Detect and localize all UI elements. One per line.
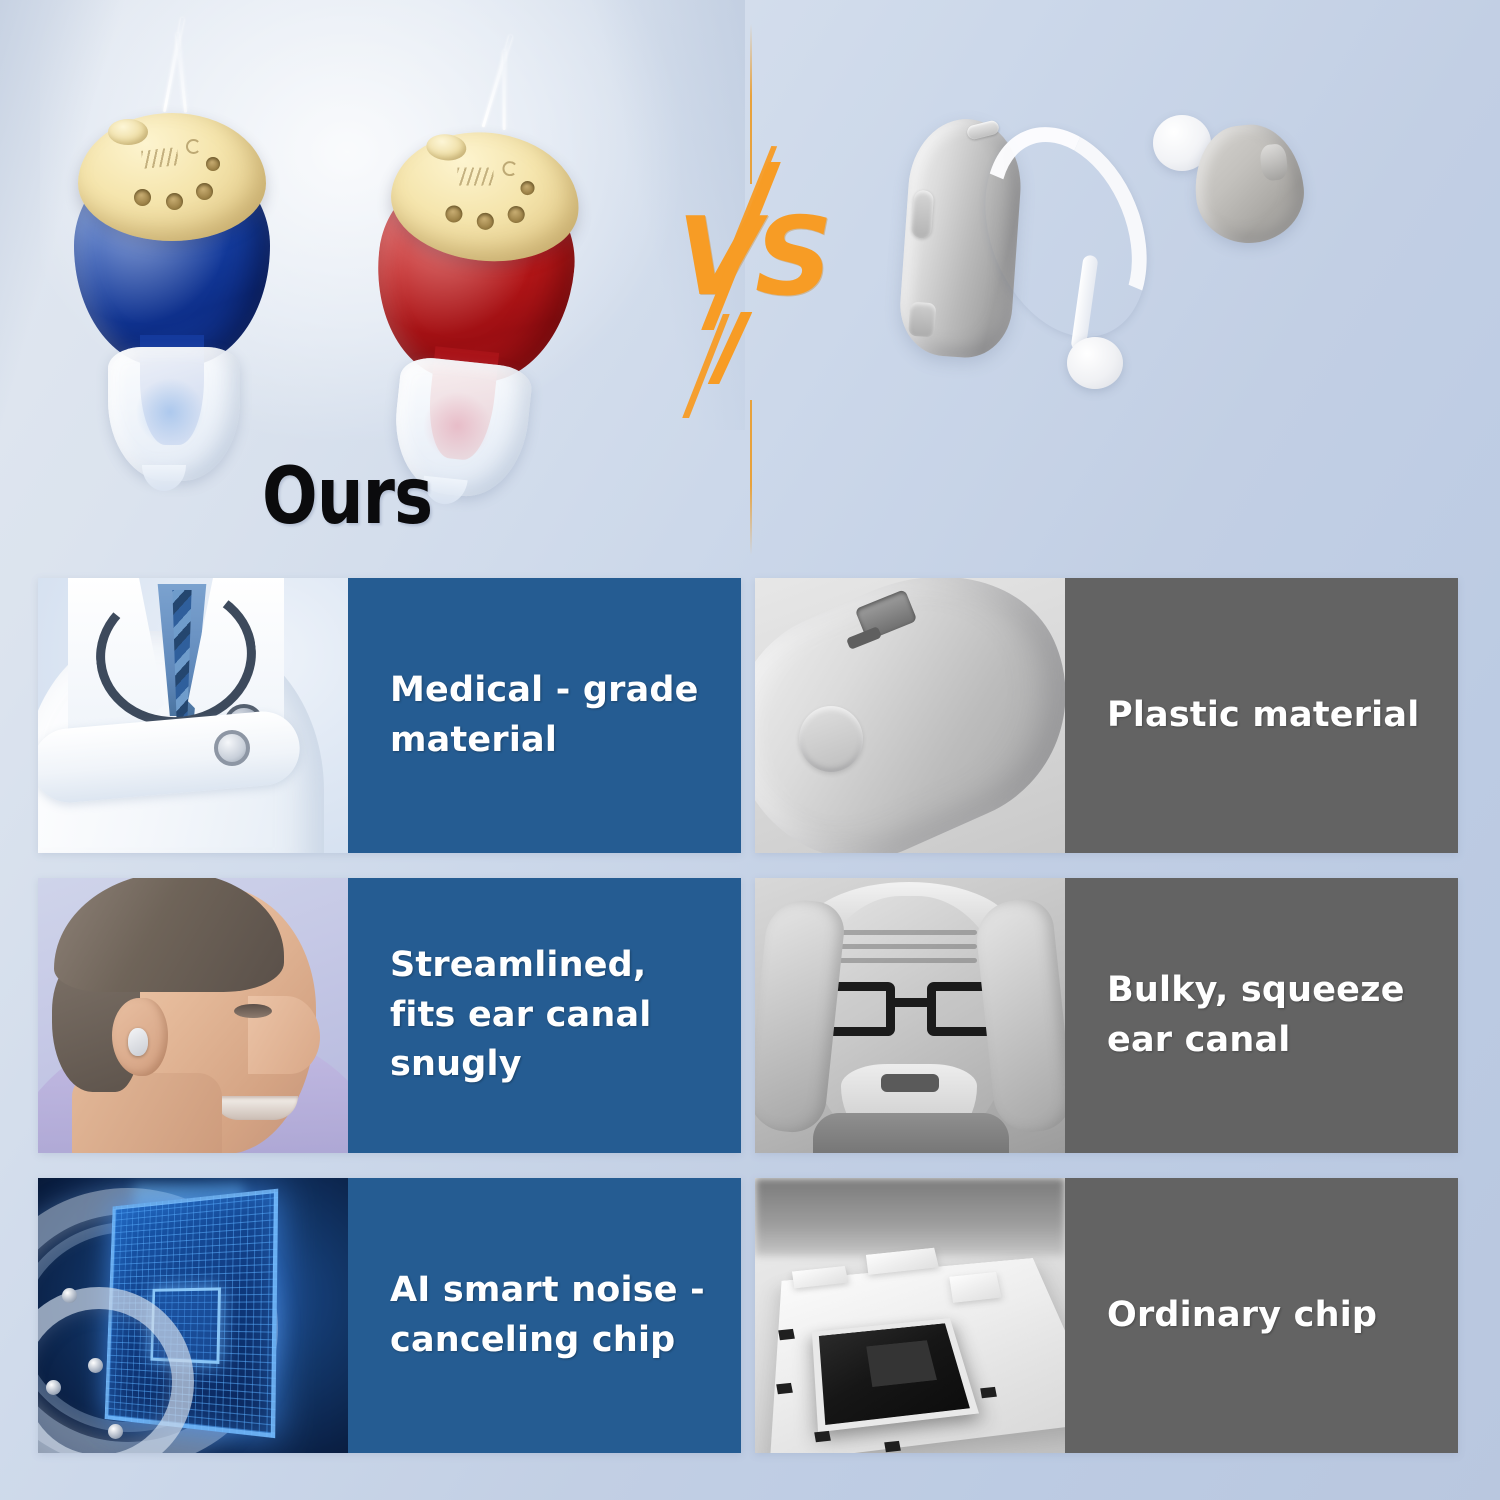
worn-hearing-aid [128,1028,148,1056]
hero-ours-panel: Ours [0,0,745,575]
smd-component [776,1383,793,1394]
faceplate-nub [425,132,467,162]
wristwatch-icon [214,730,250,766]
vent-port [476,212,495,231]
card-media-ordinary-chip [755,1178,1065,1453]
feature-label: Bulky, squeeze ear canal [1107,966,1437,1065]
card-panel-ours-1: Medical - grade material [348,578,741,853]
card-media-frustrated-man [755,878,1065,1153]
vent-port [520,180,535,195]
power-mark-icon [502,160,518,176]
comparison-card-others-1: Plastic material [755,578,1458,853]
removal-string-icon [482,35,513,128]
card-panel-others-1: Plastic material [1065,578,1458,853]
divider-line-top [750,24,752,184]
man-profile-photo [38,878,348,1153]
forehead-wrinkle [839,930,977,935]
hair [54,878,284,992]
hero-caption-ours: Ours [262,458,432,536]
product-cic-hearing-aid-red [348,100,598,510]
card-panel-others-3: Ordinary chip [1065,1178,1458,1453]
feature-label: Ordinary chip [1107,1291,1377,1341]
shell-button [799,706,863,772]
comparison-card-ours-3: AI smart noise - canceling chip [38,1178,741,1453]
feature-label: Medical - grade material [390,666,720,765]
card-media-man-profile [38,878,348,1153]
removal-string-icon [503,50,506,130]
smd-component [814,1431,831,1442]
component-tab [949,1272,1001,1303]
vent-port [445,205,464,224]
mouth [214,1096,298,1120]
processor-die [812,1318,979,1432]
vent-port [206,157,220,171]
hero-others-panel: Others [755,0,1500,575]
comparison-card-ours-2: Streamlined, fits ear canal snugly [38,878,741,1153]
bolt-head [62,1288,77,1303]
silicone-ear-dome [108,347,240,481]
beige-faceplate [78,113,266,241]
comparison-card-others-3: Ordinary chip [755,1178,1458,1453]
card-panel-others-2: Bulky, squeeze ear canal [1065,878,1458,1153]
shirt [813,1113,1009,1153]
card-panel-ours-2: Streamlined, fits ear canal snugly [348,878,741,1153]
faceplate-grille-icon [141,147,179,169]
smd-component [778,1329,795,1340]
product-bte-hearing-aid-grey [905,105,1325,395]
vent-port [196,183,213,200]
vent-port [166,193,183,210]
bolt-head [46,1380,61,1395]
doctor-photo [38,578,348,853]
hero-section: Ours VS [0,0,1500,575]
removal-string-icon [176,33,187,113]
smd-component [980,1387,997,1398]
blurred-background [755,1178,1065,1256]
plastic-hearing-aid-photo [755,578,1065,853]
eye [234,1004,272,1018]
divider-line-bottom [750,400,752,555]
comparison-card-ours-1: Medical - grade material [38,578,741,853]
bolt-head [88,1358,103,1373]
feature-label: Streamlined, fits ear canal snugly [390,941,720,1090]
feature-label: Plastic material [1107,691,1419,741]
smd-component [884,1441,901,1452]
forehead-wrinkle [839,944,977,949]
frustrated-elderly-man-photo [755,878,1065,1153]
mouth [881,1074,939,1092]
comparison-grid: Medical - grade material Plastic materia… [38,578,1458,1453]
card-media-plastic-shell [755,578,1065,853]
power-mark-icon [186,139,201,154]
vent-port [134,189,151,206]
comparison-card-others-2: Bulky, squeeze ear canal [755,878,1458,1153]
card-panel-ours-3: AI smart noise - canceling chip [348,1178,741,1453]
card-media-ai-chip [38,1178,348,1453]
bte-ear-dome [1067,337,1123,389]
dome-tip [142,465,186,491]
forehead-wrinkle [839,958,977,963]
faceplate-grille-icon [457,168,493,186]
card-media-doctor [38,578,348,853]
ai-chip-photo [38,1178,348,1453]
faceplate-nub [108,119,148,145]
feature-label: AI smart noise - canceling chip [390,1266,720,1365]
product-cic-hearing-aid-blue [68,95,278,485]
vent-port [507,205,526,224]
comparison-infographic: Ours VS [0,0,1500,1500]
bolt-head [108,1424,123,1439]
ordinary-chip-photo [755,1178,1065,1453]
